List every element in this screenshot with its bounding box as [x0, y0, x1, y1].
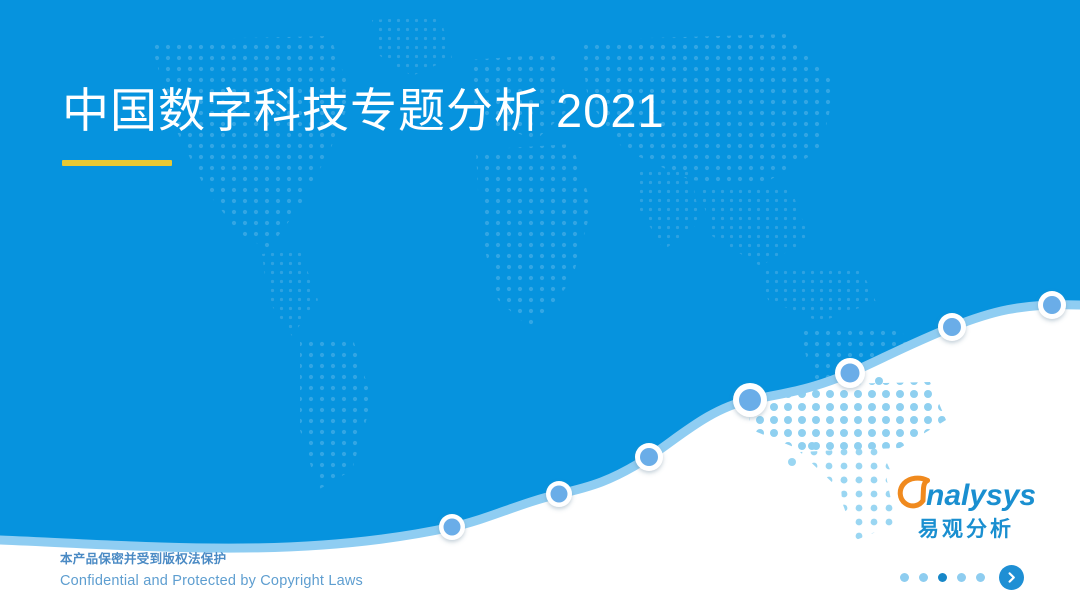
data-point-marker — [835, 358, 865, 388]
chevron-right-icon — [1005, 571, 1018, 584]
title-slide: 中国数字科技专题分析 2021 本产品保密并受到版权法保护 Confidenti… — [0, 0, 1080, 608]
pager-dot-4[interactable] — [957, 573, 966, 582]
page-title: 中国数字科技专题分析 2021 — [62, 82, 922, 141]
data-point-marker — [938, 313, 966, 341]
pager-dot-1[interactable] — [900, 573, 909, 582]
analysys-wordmark-icon: nalysys — [896, 474, 1036, 514]
title-block: 中国数字科技专题分析 2021 — [62, 82, 922, 166]
next-slide-button[interactable] — [999, 565, 1024, 590]
pager-dot-3[interactable] — [938, 573, 947, 582]
data-point-marker — [439, 514, 465, 540]
logo-wordmark-text: nalysys — [926, 479, 1036, 512]
title-accent-bar — [62, 160, 172, 166]
copyright-footer: 本产品保密并受到版权法保护 Confidential and Protected… — [60, 550, 363, 592]
data-point-marker — [635, 443, 663, 471]
data-point-marker — [546, 481, 572, 507]
copyright-text-en: Confidential and Protected by Copyright … — [60, 571, 363, 592]
logo-lead-a-icon — [900, 478, 927, 506]
pager-dot-5[interactable] — [976, 573, 985, 582]
copyright-text-cn: 本产品保密并受到版权法保护 — [60, 550, 363, 568]
analysys-logo: nalysys 易观分析 — [896, 474, 1036, 543]
logo-name-cn: 易观分析 — [896, 513, 1036, 543]
pager-dot-2[interactable] — [919, 573, 928, 582]
data-point-marker — [733, 383, 767, 417]
slide-pagination — [900, 565, 1024, 590]
data-point-marker — [1038, 291, 1066, 319]
